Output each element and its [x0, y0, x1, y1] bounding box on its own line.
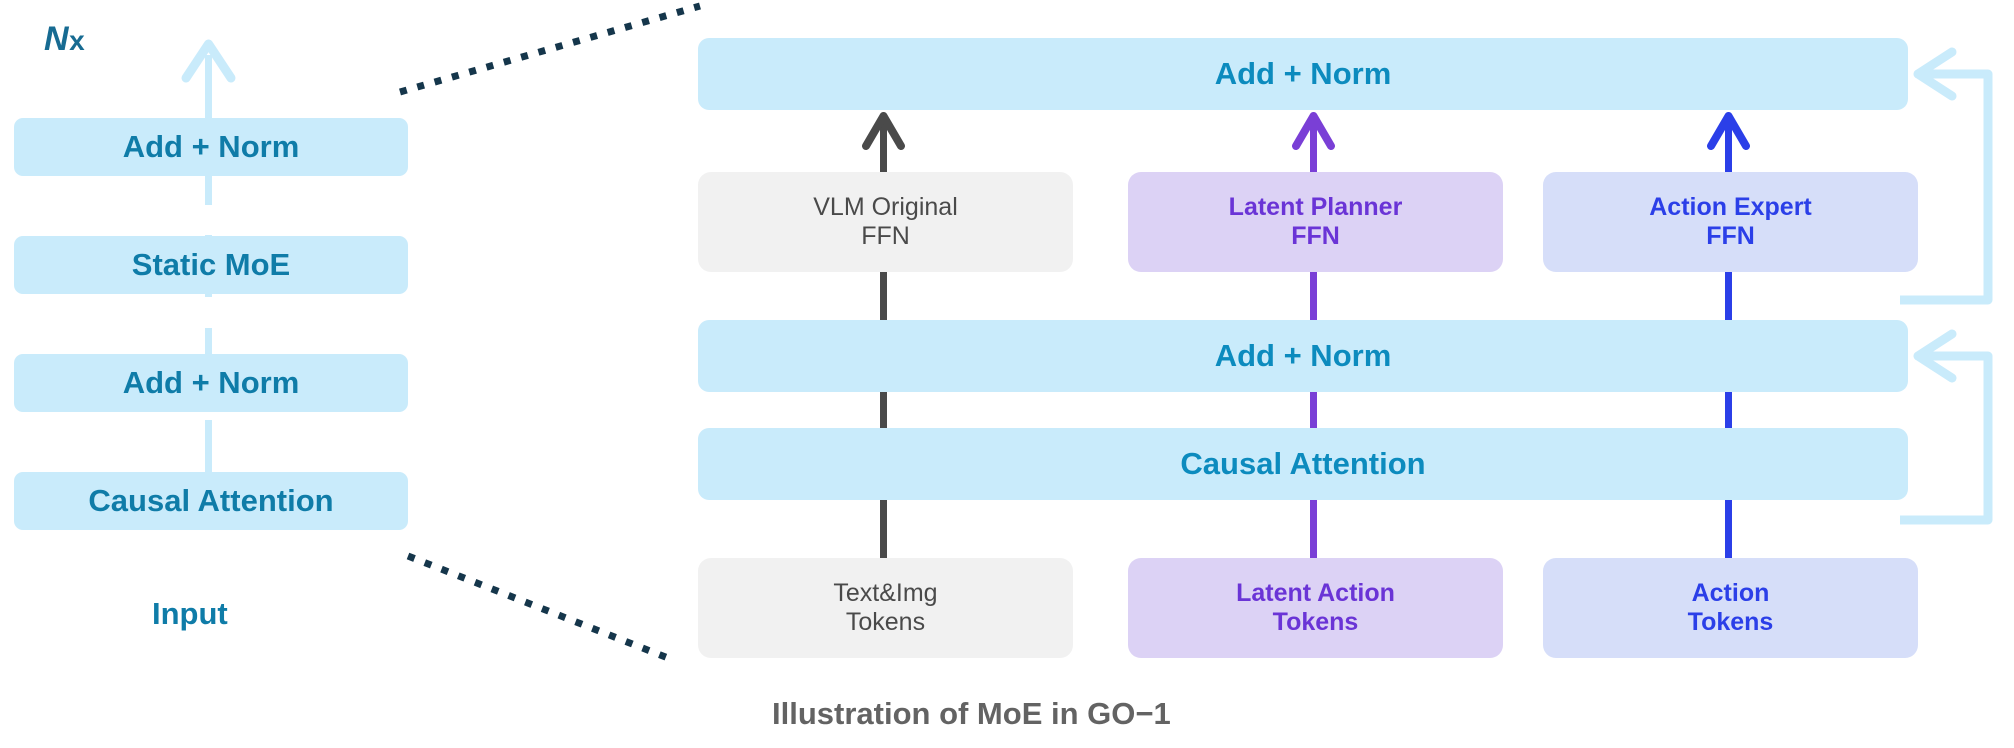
left-block-static-moe[interactable]: Static MoE [14, 236, 408, 294]
figure-caption: Illustration of MoE in GO−1 [772, 696, 1171, 732]
expert-box-action-expert-ffn[interactable]: Action ExpertFFN [1543, 172, 1918, 272]
dotted-connector-upper [400, 6, 700, 92]
bar-label: Causal Attention [1180, 446, 1425, 483]
connector-purple-ffn-to-topnorm [1310, 120, 1317, 172]
bar-label: Add + Norm [1215, 56, 1392, 93]
expert-label-line1: VLM Original [813, 193, 958, 221]
repeat-count-n: N [44, 20, 69, 58]
expert-label: Action ExpertFFN [1649, 193, 1812, 252]
repeat-count-label: Nx [44, 20, 85, 59]
token-box-action-tokens[interactable]: ActionTokens [1543, 558, 1918, 658]
token-box-latent-action-tokens[interactable]: Latent ActionTokens [1128, 558, 1503, 658]
left-block-label: Add + Norm [123, 129, 300, 166]
right-mid-add-norm-bar[interactable]: Add + Norm [698, 320, 1908, 392]
left-spine-bottom [205, 420, 212, 480]
left-spine-top [205, 55, 212, 120]
connector-gray-attn-to-midnorm [880, 392, 887, 428]
connector-blue-attn-to-midnorm [1725, 392, 1732, 428]
bar-label: Add + Norm [1215, 338, 1392, 375]
expert-label-line1: Action Expert [1649, 193, 1812, 221]
expert-label-line1: Latent Planner [1229, 193, 1403, 221]
token-label-line2: Tokens [1273, 608, 1359, 636]
connector-gray-tokens-to-attn [880, 500, 887, 558]
connector-blue-ffn-to-topnorm [1725, 120, 1732, 172]
expert-label-line2: FFN [1291, 222, 1340, 250]
expert-box-latent-planner-ffn[interactable]: Latent PlannerFFN [1128, 172, 1503, 272]
token-label: Text&ImgTokens [833, 579, 937, 638]
left-block-label: Add + Norm [123, 365, 300, 402]
token-label-line2: Tokens [1688, 608, 1774, 636]
connector-purple-tokens-to-attn [1310, 500, 1317, 558]
connector-purple-midnorm-to-ffn [1310, 272, 1317, 320]
left-block-label: Static MoE [132, 247, 290, 284]
expert-label-line2: FFN [861, 222, 910, 250]
left-block-causal-attention[interactable]: Causal Attention [14, 472, 408, 530]
expert-label: Latent PlannerFFN [1229, 193, 1403, 252]
connector-gray-ffn-to-topnorm [880, 120, 887, 172]
residual-connection-lower [1900, 334, 1988, 520]
right-causal-attention-bar[interactable]: Causal Attention [698, 428, 1908, 500]
expert-label: VLM OriginalFFN [813, 193, 958, 252]
token-label-line2: Tokens [846, 608, 925, 636]
connector-purple-attn-to-midnorm [1310, 392, 1317, 428]
connector-blue-tokens-to-attn [1725, 500, 1732, 558]
expert-label-line2: FFN [1706, 222, 1755, 250]
right-top-add-norm-bar[interactable]: Add + Norm [698, 38, 1908, 110]
token-label-line1: Action [1692, 579, 1770, 607]
token-label-line1: Text&Img [833, 579, 937, 607]
figure-canvas: Nx Add + Norm Static MoE Add + Norm Caus… [0, 0, 2014, 748]
token-label: Latent ActionTokens [1236, 579, 1395, 638]
input-label: Input [152, 596, 228, 632]
repeat-count-x: x [69, 25, 85, 56]
left-block-label: Causal Attention [88, 483, 333, 520]
left-block-add-norm-bottom[interactable]: Add + Norm [14, 354, 408, 412]
expert-box-vlm-original-ffn[interactable]: VLM OriginalFFN [698, 172, 1073, 272]
token-label-line1: Latent Action [1236, 579, 1395, 607]
connector-blue-midnorm-to-ffn [1725, 272, 1732, 320]
left-block-add-norm-top[interactable]: Add + Norm [14, 118, 408, 176]
dotted-connector-lower [408, 556, 668, 658]
connector-gray-midnorm-to-ffn [880, 272, 887, 320]
token-box-text-img-tokens[interactable]: Text&ImgTokens [698, 558, 1073, 658]
token-label: ActionTokens [1688, 579, 1774, 638]
